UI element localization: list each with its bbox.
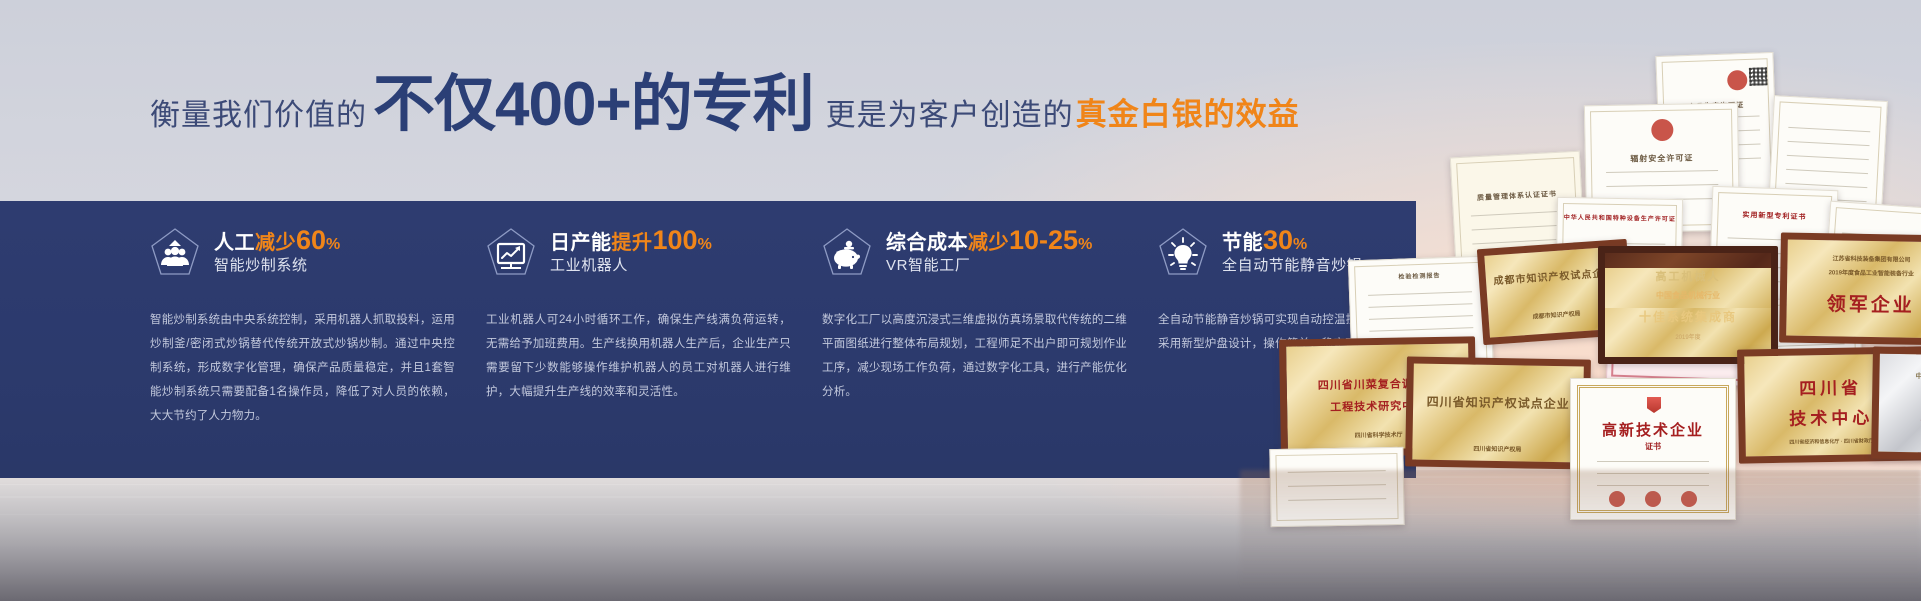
stat-unit: % — [1078, 236, 1092, 253]
certificate-wall: 食品生产许可证 辐射安全许可证 实用新型专利证书 — [1240, 48, 1921, 518]
page-title: 衡量我们价值的 不仅400+的专利 更是为客户创造的 真金白银的效益 — [150, 74, 1300, 146]
headline-middle: 更是为客户创造的 — [826, 90, 1074, 134]
stat-line: 人工减少60% — [214, 236, 340, 253]
banner-stage: 衡量我们价值的 不仅400+的专利 更是为客户创造的 真金白银的效益 — [0, 0, 1921, 601]
feature-item-cost: 综合成本减少10-25% VR智能工厂 数字化工厂以高度沉浸式三维虚拟仿真场景取… — [822, 225, 1158, 429]
stat-number: 60 — [296, 225, 326, 255]
headline-emphasis: 不仅400+的专利 — [373, 74, 814, 136]
feature-panel: 人工减少60% 智能炒制系统 智能炒制系统由中央系统控制，采用机器人抓取投料，运… — [0, 201, 1416, 478]
feature-body: 智能炒制系统由中央系统控制，采用机器人抓取投料，运用炒制釜/密闭式炒锅替代传统开… — [150, 309, 455, 429]
stat-label: 人工 — [214, 232, 255, 254]
stat-line: 日产能提升100% — [550, 236, 712, 253]
headline-lead: 衡量我们价值的 — [150, 90, 367, 134]
award-plaque: 四川省知识产权试点企业 四川省知识产权局 — [1405, 356, 1591, 469]
feature-item-capacity: 日产能提升100% 工业机器人 工业机器人可24小时循环工作，确保生产线满负荷运… — [486, 225, 822, 429]
feature-subtitle: 工业机器人 — [550, 254, 712, 275]
people-group-icon — [150, 227, 200, 281]
feature-body: 工业机器人可24小时循环工作，确保生产线满负荷运转，无需给予加班费用。生产线换用… — [486, 309, 791, 405]
wall-reflection — [1240, 470, 1921, 590]
feature-body: 数字化工厂以高度沉浸式三维虚拟仿真场景取代传统的二维平面图纸进行整体布局规划，工… — [822, 309, 1127, 405]
chart-board-icon — [486, 227, 536, 281]
stat-number: 100 — [653, 225, 698, 255]
feature-item-labor: 人工减少60% 智能炒制系统 智能炒制系统由中央系统控制，采用机器人抓取投料，运… — [150, 225, 486, 429]
award-plaque: 江苏省科技装备集团有限公司 2019年度食品工业智能装备行业 领军企业 — [1779, 232, 1921, 345]
stat-unit: % — [326, 236, 340, 253]
piggy-bank-icon — [822, 227, 872, 281]
award-plaque: 高工机械人 中国食品机械行业 十佳系统集成商 2019年度 — [1598, 246, 1778, 364]
lightbulb-icon — [1158, 227, 1208, 281]
stat-number: 10-25 — [1009, 225, 1078, 255]
stat-verb: 减少 — [255, 232, 296, 254]
stat-label: 综合成本 — [886, 232, 968, 254]
stat-verb: 提升 — [612, 232, 653, 254]
stat-unit: % — [698, 236, 712, 253]
feature-subtitle: VR智能工厂 — [886, 254, 1092, 275]
award-plaque: 中国食品机械装备有限公司 食品行业 创新十强企业 — [1871, 347, 1921, 462]
feature-subtitle: 智能炒制系统 — [214, 254, 340, 275]
stat-verb: 减少 — [968, 232, 1009, 254]
stat-line: 综合成本减少10-25% — [886, 236, 1092, 253]
stat-label: 日产能 — [550, 232, 612, 254]
